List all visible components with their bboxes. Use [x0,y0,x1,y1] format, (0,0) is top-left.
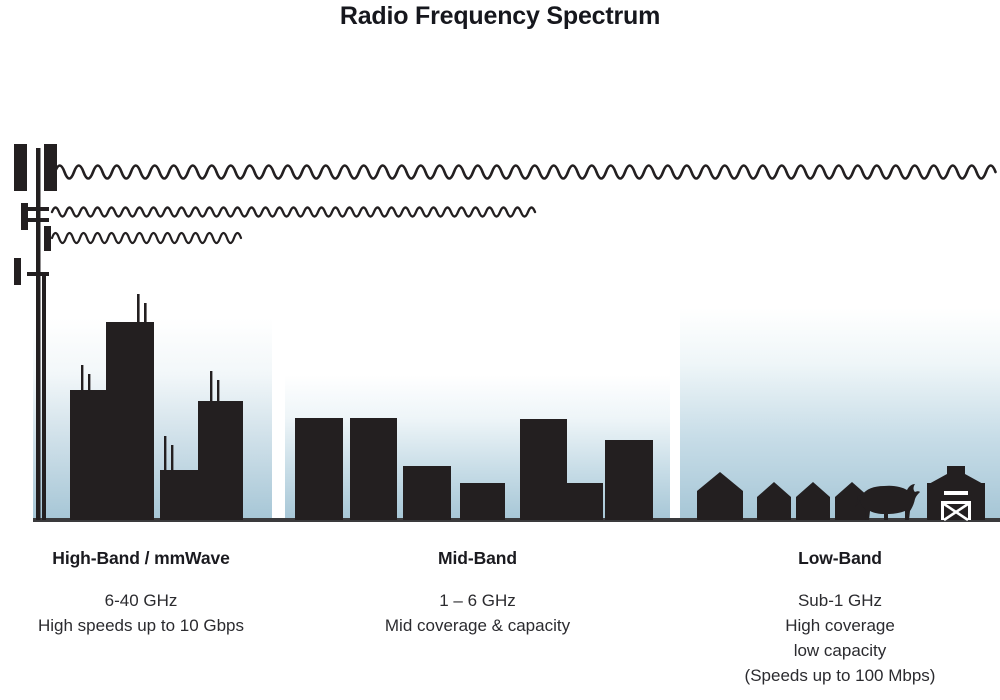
tower-cross-arm-upper2 [27,218,49,222]
band-description-low-band: Sub-1 GHz High coverage low capacity (Sp… [680,588,1000,688]
skyscraper-spire [210,371,212,403]
building [460,483,505,520]
wave-high-frequency [52,233,241,243]
building [295,418,343,520]
skyscraper-spire [81,365,83,393]
building [567,483,603,520]
tower-mast [36,148,41,520]
band-line: Sub-1 GHz [680,588,1000,613]
band-line: High coverage [680,613,1000,638]
band-line: Mid coverage & capacity [285,613,670,638]
tower-antenna-panel-left [14,144,27,191]
tower-antenna-panel-lower-left [14,258,21,285]
band-description-mid-band: 1 – 6 GHz Mid coverage & capacity [285,588,670,638]
building [70,390,112,520]
band-line: High speeds up to 10 Gbps [0,613,282,638]
band-line: 6-40 GHz [0,588,282,613]
tower-antenna-panel-right [44,144,57,191]
skyscraper-spire [171,445,173,472]
skyscraper-spire [164,436,166,472]
building [520,419,567,520]
barn-roof-ridge [927,483,985,488]
barn-hayloft-window [944,491,968,495]
skyscraper-spire [137,294,140,324]
band-label-high-band: High-Band / mmWave [10,548,272,569]
band-line: low capacity [680,638,1000,663]
tower-cross-arm-upper [27,207,49,211]
tower-cross-arm-lower [27,272,49,276]
building [350,418,397,520]
radio-waves [52,166,996,244]
building [403,466,451,520]
band-label-low-band: Low-Band [680,548,1000,569]
building [605,440,653,520]
building [198,401,243,520]
band-description-high-band: 6-40 GHz High speeds up to 10 Gbps [0,588,282,638]
wave-low-frequency [55,166,996,179]
tower-mast-secondary [42,276,46,520]
tower-antenna-panel-small [44,226,51,251]
infographic-canvas: Radio Frequency Spectrum [0,0,1000,700]
tower-antenna-panel-upper-left [21,203,28,230]
wave-mid-frequency [52,208,535,217]
band-line: 1 – 6 GHz [285,588,670,613]
band-label-mid-band: Mid-Band [285,548,670,569]
skyscraper-spire [217,380,219,403]
building [106,322,154,520]
building [160,470,202,520]
band-line: (Speeds up to 100 Mbps) [680,663,1000,688]
skyscraper-spire [144,303,147,324]
